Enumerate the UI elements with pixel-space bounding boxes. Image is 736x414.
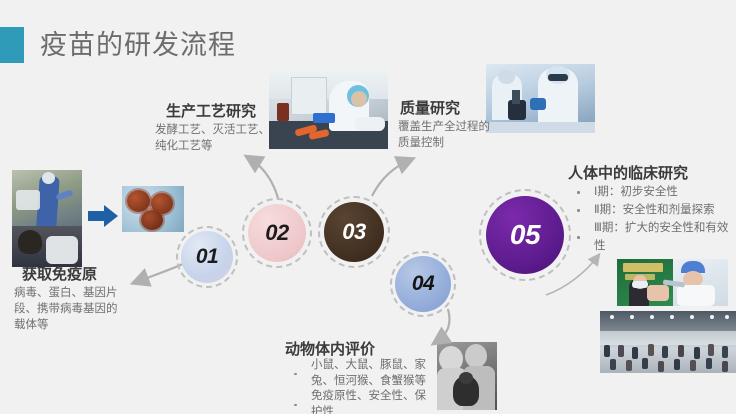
step-number-03: 03 (342, 219, 365, 245)
title-accent-square (0, 27, 24, 63)
step-bullets-05: Ⅰ期：初步安全性 Ⅱ期：安全性和剂量探索 Ⅲ期：扩大的安全性和有效性 (568, 183, 736, 255)
bullet-text: 免疫原性、安全性、保护性 (311, 390, 426, 414)
bullet-text: Ⅰ期：初步安全性 (594, 186, 678, 198)
vaccination-hall-photo (600, 311, 736, 373)
animal-study-photo (437, 342, 497, 410)
step-number-05: 05 (510, 219, 540, 251)
step-ball-05: 05 (486, 196, 564, 274)
list-item: Ⅰ期：初步安全性 (568, 183, 736, 201)
step-heading-01: 获取免疫原 (22, 263, 97, 284)
step-desc-01: 病毒、蛋白、基因片 段、携带病毒基因的 载体等 (14, 285, 164, 333)
step-heading-03: 质量研究 (400, 97, 460, 118)
vaccination-closeup-photo (617, 259, 728, 306)
step-desc-03: 覆盖生产全过程的 质量控制 (398, 119, 548, 151)
desc-line: 病毒、蛋白、基因片 (14, 285, 164, 301)
blue-right-arrow (88, 205, 118, 227)
step-ball-02: 02 (248, 204, 306, 262)
desc-line: 质量控制 (398, 135, 548, 151)
step-ball-03: 03 (324, 202, 384, 262)
list-item: 小鼠、大鼠、豚鼠、家兔、恒河猴、食蟹猴等 (285, 358, 437, 389)
step-number-02: 02 (265, 220, 288, 246)
list-item: Ⅱ期：安全性和剂量探索 (568, 201, 736, 219)
list-item: 免疫原性、安全性、保护性 (285, 389, 437, 414)
step-node-05[interactable]: 05 (479, 189, 571, 281)
step-ball-04: 04 (395, 256, 451, 312)
desc-line: 覆盖生产全过程的 (398, 119, 548, 135)
step-node-04[interactable]: 04 (390, 251, 456, 317)
step-ball-01: 01 (181, 231, 233, 283)
step-node-01[interactable]: 01 (176, 226, 238, 288)
desc-line: 发酵工艺、灭活工艺、 (155, 122, 315, 138)
desc-line: 纯化工艺等 (155, 138, 315, 154)
page-title: 疫苗的研发流程 (40, 26, 236, 64)
bullet-text: Ⅲ期：扩大的安全性和有效性 (594, 222, 728, 252)
bullet-text: 小鼠、大鼠、豚鼠、家兔、恒河猴、食蟹猴等 (311, 359, 426, 387)
step-number-01: 01 (196, 245, 218, 269)
step-bullets-04: 小鼠、大鼠、豚鼠、家兔、恒河猴、食蟹猴等 免疫原性、安全性、保护性 (285, 358, 437, 414)
step-desc-02: 发酵工艺、灭活工艺、 纯化工艺等 (155, 122, 315, 154)
virus-micrograph-photo (122, 186, 184, 232)
desc-line: 段、携带病毒基因的 (14, 301, 164, 317)
step-node-02[interactable]: 02 (242, 198, 312, 268)
list-item: Ⅲ期：扩大的安全性和有效性 (568, 219, 736, 255)
slide-canvas: 疫苗的研发流程 (0, 0, 736, 414)
bullet-text: Ⅱ期：安全性和剂量探索 (594, 204, 715, 216)
step-number-04: 04 (412, 272, 434, 296)
swab-sampling-photo (12, 170, 82, 267)
step-heading-04: 动物体内评价 (285, 338, 375, 359)
step-heading-05: 人体中的临床研究 (568, 162, 688, 183)
step-heading-02: 生产工艺研究 (166, 100, 256, 121)
desc-line: 载体等 (14, 317, 164, 333)
step-node-03[interactable]: 03 (318, 196, 390, 268)
